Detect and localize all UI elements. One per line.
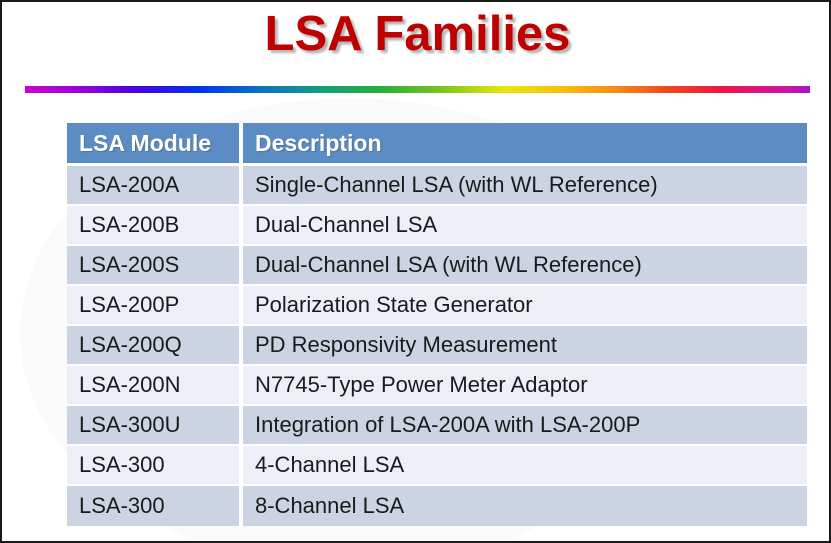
column-header-description: Description [243, 123, 807, 166]
table-row: LSA-200PPolarization State Generator [67, 286, 807, 326]
table-row: LSA-200SDual-Channel LSA (with WL Refere… [67, 246, 807, 286]
cell-description: 8-Channel LSA [243, 486, 807, 526]
cell-description: Single-Channel LSA (with WL Reference) [243, 166, 807, 206]
rainbow-divider [25, 86, 810, 93]
table-row: LSA-300UIntegration of LSA-200A with LSA… [67, 406, 807, 446]
table-row: LSA-200ASingle-Channel LSA (with WL Refe… [67, 166, 807, 206]
column-header-lsa-module: LSA Module [67, 123, 243, 166]
cell-lsa-module: LSA-200A [67, 166, 243, 206]
cell-lsa-module: LSA-200P [67, 286, 243, 326]
cell-lsa-module: LSA-200S [67, 246, 243, 286]
lsa-families-table-container: LSA Module Description LSA-200ASingle-Ch… [67, 123, 807, 526]
cell-description: Integration of LSA-200A with LSA-200P [243, 406, 807, 446]
cell-description: 4-Channel LSA [243, 446, 807, 486]
table-row: LSA-3008-Channel LSA [67, 486, 807, 526]
cell-lsa-module: LSA-200Q [67, 326, 243, 366]
cell-description: Dual-Channel LSA [243, 206, 807, 246]
cell-description: Dual-Channel LSA (with WL Reference) [243, 246, 807, 286]
table-row: LSA-200BDual-Channel LSA [67, 206, 807, 246]
cell-description: Polarization State Generator [243, 286, 807, 326]
cell-lsa-module: LSA-300 [67, 446, 243, 486]
table-header: LSA Module Description [67, 123, 807, 166]
cell-lsa-module: LSA-200B [67, 206, 243, 246]
table-header-row: LSA Module Description [67, 123, 807, 166]
table-body: LSA-200ASingle-Channel LSA (with WL Refe… [67, 166, 807, 526]
table-row: LSA-200QPD Responsivity Measurement [67, 326, 807, 366]
cell-lsa-module: LSA-200N [67, 366, 243, 406]
cell-description: N7745-Type Power Meter Adaptor [243, 366, 807, 406]
cell-lsa-module: LSA-300 [67, 486, 243, 526]
table-row: LSA-3004-Channel LSA [67, 446, 807, 486]
page-title: LSA Families [2, 6, 831, 62]
lsa-families-table: LSA Module Description LSA-200ASingle-Ch… [67, 123, 807, 526]
cell-description: PD Responsivity Measurement [243, 326, 807, 366]
table-row: LSA-200NN7745-Type Power Meter Adaptor [67, 366, 807, 406]
slide-canvas: LSA Families LSA Module Description LSA-… [0, 0, 831, 543]
cell-lsa-module: LSA-300U [67, 406, 243, 446]
